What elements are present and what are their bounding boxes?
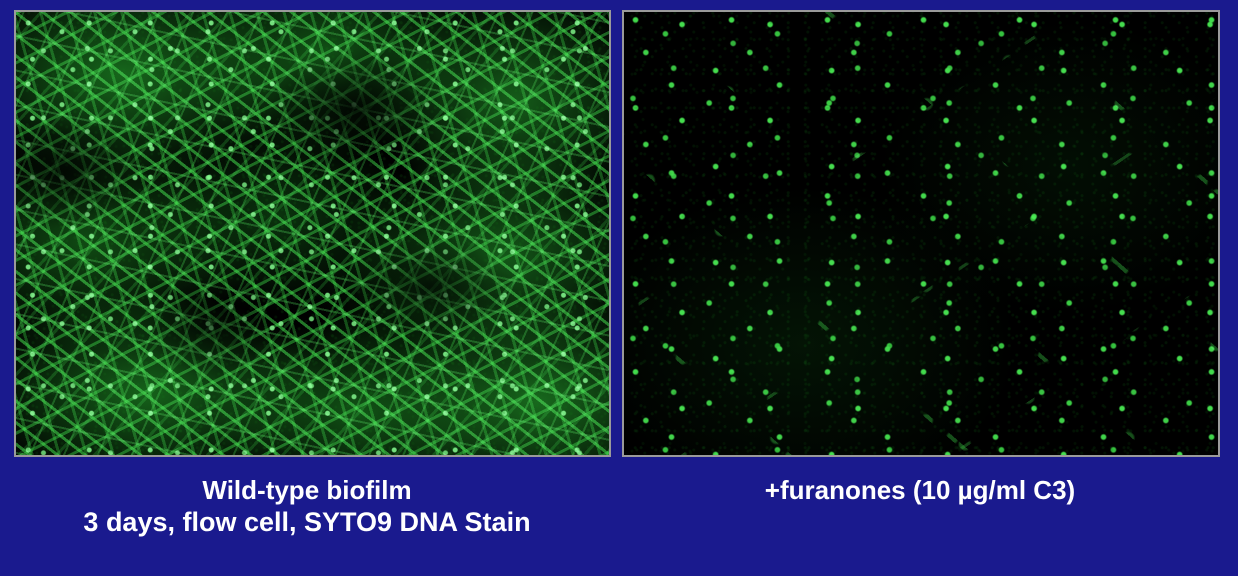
- caption-wild-type: Wild-type biofilm 3 days, flow cell, SYT…: [0, 474, 614, 538]
- micrograph-panel-furanone-treated: [622, 10, 1220, 457]
- slide-canvas: Furanones block biofilm development in P…: [0, 0, 1238, 576]
- micrograph-image-wild-type: [16, 12, 609, 455]
- slide-title-cutoff: Furanones block biofilm development in P…: [0, 0, 1238, 10]
- biofilm-void-layer: [16, 12, 609, 455]
- micrograph-panel-wild-type: [14, 10, 611, 457]
- sparse-noise-layer: [624, 12, 1218, 455]
- caption-wild-type-line-2: 3 days, flow cell, SYTO9 DNA Stain: [0, 506, 614, 538]
- slide-title-text: Furanones block biofilm development in P…: [640, 0, 1238, 4]
- caption-wild-type-line-1: Wild-type biofilm: [0, 474, 614, 506]
- caption-furanone-treated: +furanones (10 µg/ml C3): [620, 474, 1220, 506]
- caption-furanone-treated-line-1: +furanones (10 µg/ml C3): [620, 474, 1220, 506]
- micrograph-image-furanone-treated: [624, 12, 1218, 455]
